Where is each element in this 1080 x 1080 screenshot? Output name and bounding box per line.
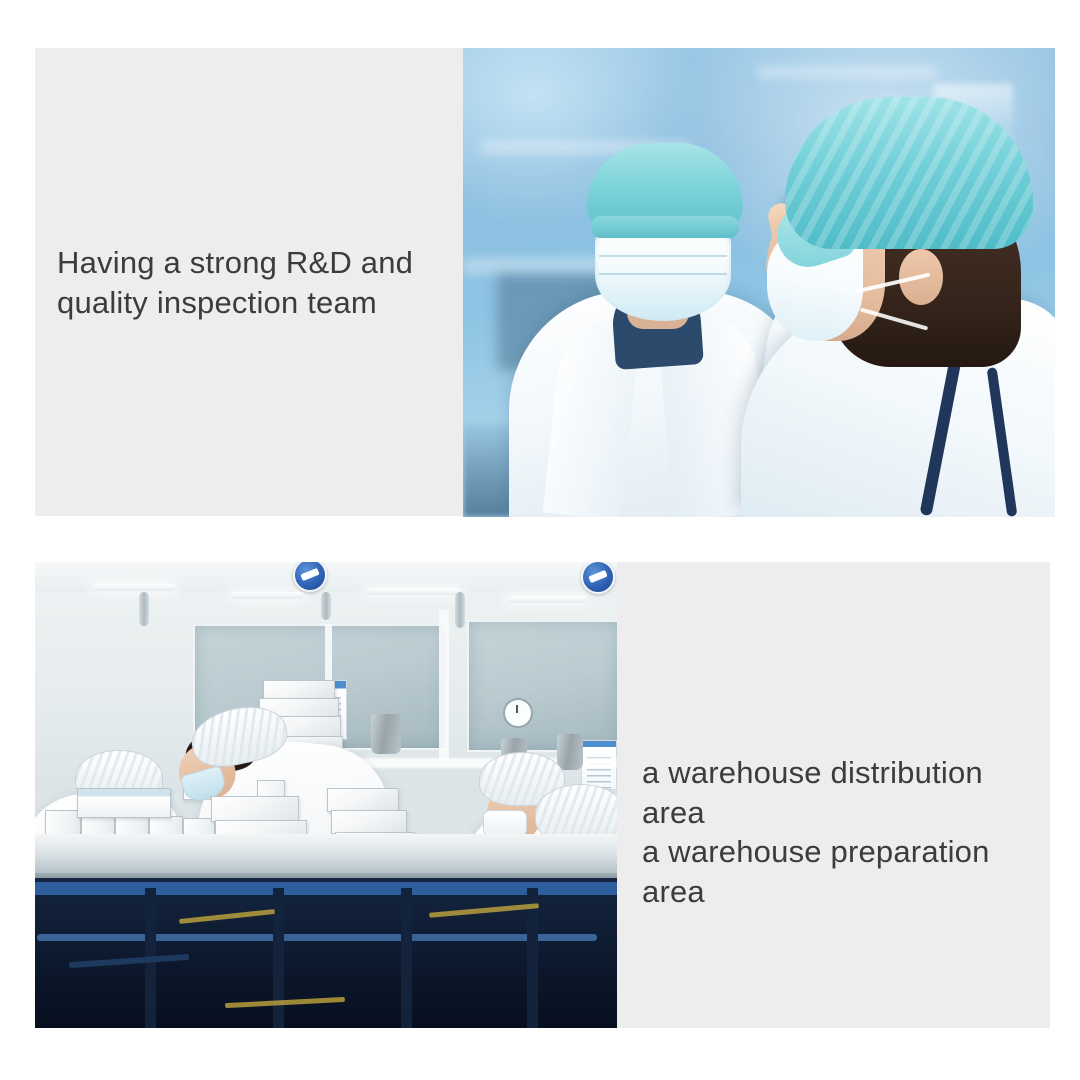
ceiling-duct-1 (139, 592, 149, 626)
floor-marking-2 (429, 903, 539, 918)
floor-marking (179, 909, 275, 924)
bottom-caption-text: a warehouse distribution area a warehous… (642, 753, 1052, 912)
table-brace (69, 954, 189, 968)
teal-hairnet-cap (785, 97, 1033, 249)
mask-fold (599, 255, 727, 257)
carton-flat (211, 796, 299, 822)
ceiling-lamp-1 (93, 584, 175, 591)
carton-flat (77, 788, 171, 818)
carton-stack-box (263, 680, 335, 700)
ceiling-lamp-4 (507, 596, 587, 603)
wall-clock (503, 698, 533, 728)
stainless-steel-table (35, 834, 617, 878)
ceiling-lamp-2 (231, 592, 305, 599)
ceiling-duct-2 (321, 592, 331, 620)
mask-fold-2 (599, 273, 727, 275)
window-post (439, 610, 449, 760)
ceiling-duct-3 (455, 592, 465, 628)
ceiling-lamp-3 (365, 588, 461, 595)
rd-quality-inspection-lab-photo (463, 48, 1055, 517)
warehouse-packing-area-photo (35, 562, 617, 1028)
table-cross-bar (37, 934, 597, 941)
table-leg (273, 888, 284, 1028)
banner-page: Having a strong R&D and quality inspecti… (0, 0, 1080, 1080)
table-leg (401, 888, 412, 1028)
carton-flat (331, 810, 407, 834)
blue-table-base (35, 878, 617, 1028)
carton-flat (327, 788, 399, 812)
glass-partition-window-2 (467, 620, 617, 752)
floor-marking-3 (225, 997, 345, 1008)
lab-technician-in-profile (731, 48, 1055, 517)
top-caption-text: Having a strong R&D and quality inspecti… (57, 243, 457, 322)
